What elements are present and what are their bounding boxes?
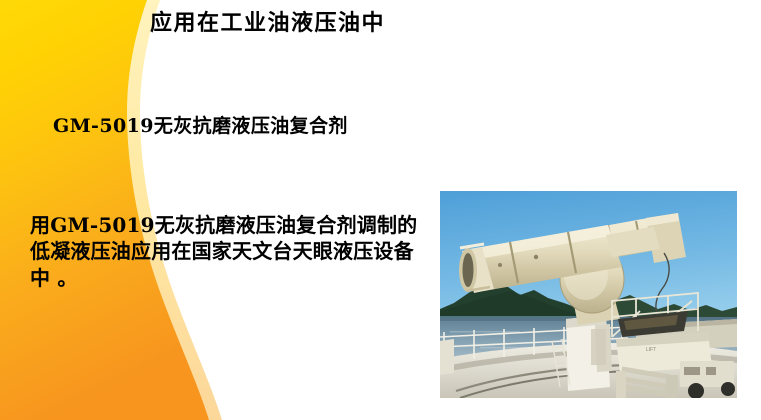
- body-paragraph: 用GM-5019无灰抗磨液压油复合剂调制的低凝液压油应用在国家天文台天眼液压设备…: [30, 212, 430, 291]
- band-highlight-shape: [0, 0, 222, 420]
- band-main-shape: [0, 0, 209, 420]
- telescope-photo: LIFT: [440, 191, 737, 398]
- product-subtitle: GM-5019无灰抗磨液压油复合剂: [53, 115, 348, 138]
- page-title: 应用在工业油液压油中: [150, 10, 385, 36]
- svg-text:LIFT: LIFT: [646, 347, 656, 353]
- photo-cabinet: [440, 339, 454, 375]
- slide-canvas: 应用在工业油液压油中 GM-5019无灰抗磨液压油复合剂 用GM-5019无灰抗…: [0, 0, 761, 420]
- decorative-gradient-band: [0, 0, 300, 420]
- photo-pier: [566, 315, 612, 391]
